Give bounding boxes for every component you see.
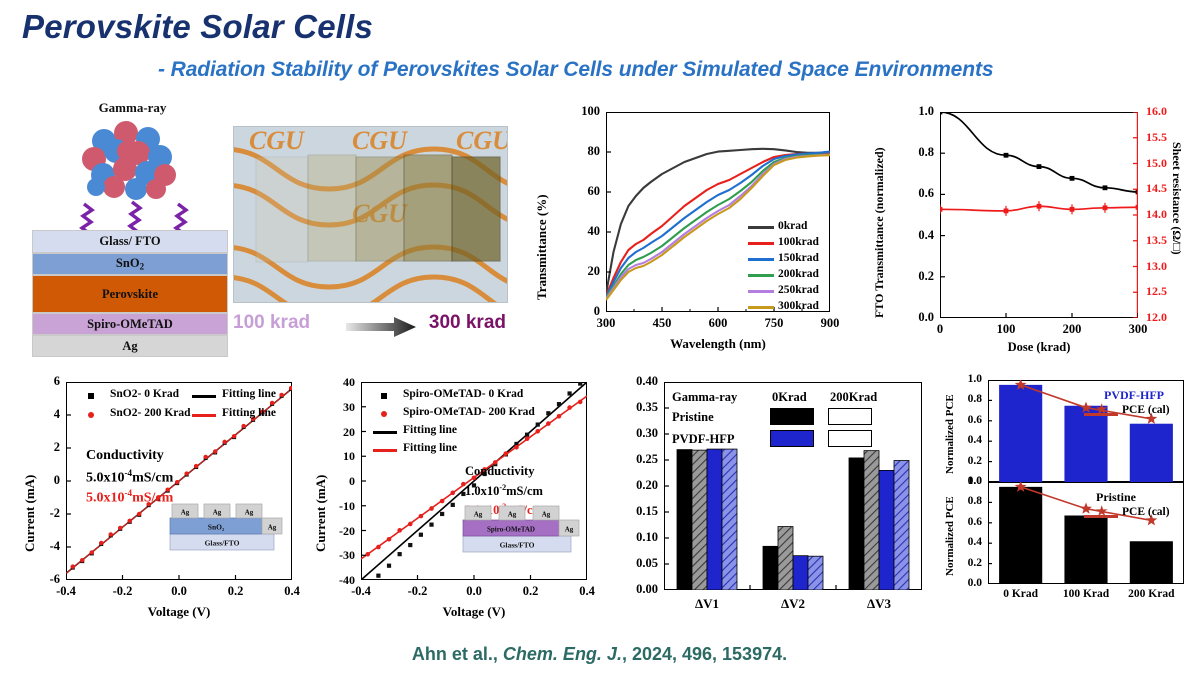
y-tick: 0.15	[636, 504, 658, 519]
x-tick: 450	[653, 316, 672, 331]
y-tick-left: 1.0	[918, 104, 934, 119]
x-axis-title: Voltage (V)	[361, 604, 587, 620]
svg-text:Ag: Ag	[565, 526, 574, 534]
x-category: 100 Krad	[1063, 588, 1109, 600]
x-category: ΔV3	[867, 596, 891, 612]
svg-text:SnO₂: SnO₂	[208, 523, 225, 532]
y-tick: -2	[50, 506, 60, 521]
legend-label: Fitting line	[403, 424, 457, 436]
y-tick: 20	[343, 425, 355, 440]
x-tick: 200	[1063, 322, 1082, 337]
legend-swatch	[748, 306, 774, 309]
legend-swatch	[748, 242, 774, 245]
y-tick-left: 0.0	[918, 310, 934, 325]
y-tick: 0.6	[968, 516, 982, 528]
x-tick: -0.4	[351, 584, 371, 599]
chart-sno2-iv: Current (mA) Voltage (V) SnO2- 0 KradFit…	[14, 372, 310, 634]
legend-label: Fitting line	[403, 442, 457, 454]
device-layer-sno2: SnO2	[32, 253, 228, 275]
device-layer-spiro: Spiro-OMeTAD	[32, 313, 228, 335]
y-tick: 0.4	[968, 536, 982, 548]
y-tick: 1.0	[968, 475, 982, 487]
chart-transmittance: Transmittance (%) Wavelength (nm) 0krad1…	[520, 100, 850, 362]
layer-label: Glass/ FTO	[99, 234, 160, 249]
legend-swatch	[828, 408, 872, 425]
dose-label-low: 100 krad	[233, 312, 310, 334]
panel-label: PVDF-HFP	[1104, 388, 1164, 403]
y-axis-title: Current (mA)	[313, 475, 329, 552]
y-tick: -20	[339, 524, 355, 539]
legend-swatch	[748, 290, 774, 293]
y-axis-title: Transmittance (%)	[534, 194, 550, 300]
device-layer-ag: Ag	[32, 335, 228, 357]
y-tick: 0.8	[968, 393, 982, 405]
svg-text:Spiro-OMeTAD: Spiro-OMeTAD	[487, 526, 535, 534]
legend-marker	[192, 414, 216, 417]
x-tick: 300	[597, 316, 616, 331]
x-tick: 750	[765, 316, 784, 331]
y-tick-left: 0.4	[918, 228, 934, 243]
gamma-ray-label: Gamma-ray	[60, 100, 205, 116]
sno2-device-inset: Glass/FTO SnO₂ Ag Ag Ag Ag	[164, 500, 288, 556]
page-subtitle: - Radiation Stability of Perovskites Sol…	[158, 58, 993, 82]
x-category: ΔV1	[695, 596, 719, 612]
pce-pristine-bars	[988, 482, 1184, 584]
legend-label: Fitting line	[222, 388, 276, 400]
y-tick-right: 12.0	[1146, 310, 1167, 325]
y-tick: 1.0	[968, 373, 982, 385]
svg-text:Ag: Ag	[268, 524, 277, 532]
y-tick: 0.25	[636, 452, 658, 467]
legend-label: Spiro-OMeTAD- 200 Krad	[403, 406, 535, 418]
conductivity-annotation: 5.0x10-4mS/cm	[86, 488, 173, 507]
star-marker-icon: ★	[1095, 505, 1108, 520]
x-tick: 0.2	[523, 584, 539, 599]
x-tick: 900	[821, 316, 840, 331]
layer-label: Ag	[122, 339, 137, 354]
y-tick: 0	[54, 473, 60, 488]
svg-text:Ag: Ag	[181, 509, 190, 517]
y-tick: 0.4	[968, 434, 982, 446]
chart-normalized-pce: Normalized PCE Normalized PCE 0.00.20.40…	[936, 374, 1194, 632]
legend-marker	[381, 393, 387, 399]
legend-marker	[192, 395, 216, 398]
conductivity-annotation: Conductivity	[465, 464, 534, 479]
y-tick: 0.2	[968, 455, 982, 467]
y-tick: 6	[54, 374, 60, 389]
conductivity-annotation: 5.0x10-4mS/cm	[86, 468, 173, 487]
legend-label: SnO2- 200 Krad	[110, 407, 191, 419]
y-tick-right: 14.0	[1146, 207, 1167, 222]
conductivity-annotation: Conductivity	[86, 448, 164, 464]
sample-photograph: CGUCGUCGU CGU	[233, 126, 508, 303]
legend-header-200krad: 200Krad	[830, 390, 877, 405]
svg-text:Ag: Ag	[245, 509, 254, 517]
x-tick: 0.0	[171, 584, 187, 599]
legend-label: 300krad	[778, 300, 819, 312]
x-tick: 0	[937, 322, 943, 337]
layer-label: Perovskite	[102, 287, 158, 302]
chart-delta-v: 0.000.050.100.150.200.250.300.350.40ΔV1Δ…	[612, 374, 930, 632]
svg-text:Ag: Ag	[474, 511, 483, 519]
legend-label: SnO2- 0 Krad	[110, 388, 179, 400]
y-tick: 0.05	[636, 556, 658, 571]
y-axis-title-right: Sheet resistance (Ω/□)	[1169, 142, 1184, 255]
legend-marker	[88, 412, 94, 418]
y-tick: 60	[588, 184, 601, 199]
y-tick: 0.30	[636, 426, 658, 441]
y-tick-left: 0.8	[918, 145, 934, 160]
citation: Ahn et al., Chem. Eng. J., 2024, 496, 15…	[0, 644, 1199, 665]
legend-label-pce: PCE (cal)	[1122, 506, 1170, 518]
legend-label: 200krad	[778, 268, 819, 280]
y-tick-left: 0.2	[918, 269, 934, 284]
legend-swatch	[748, 274, 774, 277]
y-tick: 20	[588, 264, 601, 279]
svg-text:Ag: Ag	[542, 511, 551, 519]
legend-label: 100krad	[778, 236, 819, 248]
chart-spiro-iv: Current (mA) Voltage (V) Spiro-OMeTAD- 0…	[305, 372, 610, 634]
legend-swatch	[770, 430, 814, 447]
spiro-device-inset: Glass/FTO Spiro-OMeTAD Ag Ag Ag Ag	[457, 502, 587, 558]
x-tick: -0.4	[56, 584, 76, 599]
panel-label: Pristine	[1096, 490, 1136, 505]
y-tick: 0.2	[968, 557, 982, 569]
gradient-right-arrow-icon	[346, 317, 416, 337]
legend-swatch	[770, 408, 814, 425]
y-tick: -4	[50, 539, 60, 554]
y-tick-right: 15.5	[1146, 130, 1167, 145]
x-tick: -0.2	[113, 584, 133, 599]
y-tick-right: 14.5	[1146, 181, 1167, 196]
y-axis-title-pvdf: Normalized PCE	[944, 394, 956, 474]
x-axis-title: Dose (krad)	[940, 340, 1138, 355]
x-category: 200 Krad	[1128, 588, 1174, 600]
y-tick: 80	[588, 144, 601, 159]
y-axis-title-left: FTO Transmittance (normalized)	[872, 147, 887, 318]
y-tick: 2	[54, 440, 60, 455]
svg-text:Glass/FTO: Glass/FTO	[500, 541, 535, 550]
legend-swatch	[748, 226, 774, 229]
y-tick: 100	[581, 104, 600, 119]
y-tick: 0.10	[636, 530, 658, 545]
y-tick: 0.00	[636, 582, 658, 597]
svg-text:Ag: Ag	[508, 511, 517, 519]
y-tick: 30	[343, 400, 355, 415]
y-tick: 4	[54, 407, 60, 422]
svg-text:Glass/FTO: Glass/FTO	[205, 539, 240, 548]
x-category: 0 Krad	[1003, 588, 1038, 600]
page-title: Perovskite Solar Cells	[22, 8, 373, 46]
citation-rest: , 2024, 496, 153974.	[622, 644, 787, 664]
x-tick: 0.2	[228, 584, 244, 599]
x-tick: 0.4	[284, 584, 300, 599]
radiation-cluster-icon	[70, 115, 190, 210]
photo-caption: 100 krad 300 krad	[233, 308, 506, 344]
legend-marker	[373, 449, 397, 452]
legend-marker	[381, 411, 387, 417]
x-tick: 0.4	[579, 584, 595, 599]
x-tick: -0.2	[408, 584, 428, 599]
transmittance-curves	[606, 112, 830, 312]
fto-dose-curves	[940, 112, 1138, 318]
x-axis-title: Wavelength (nm)	[606, 336, 830, 352]
svg-text:CGU: CGU	[456, 127, 507, 155]
conductivity-annotation: 1.0x10-2mS/cm	[465, 483, 543, 499]
y-tick: 0.35	[636, 400, 658, 415]
y-tick: 0.40	[636, 374, 658, 389]
legend-row-label: PVDF-HFP	[672, 432, 734, 447]
device-layer-perovskite: Perovskite	[32, 275, 228, 313]
citation-authors: Ahn et al.,	[412, 644, 498, 664]
x-tick: 0.0	[466, 584, 482, 599]
y-tick: -10	[339, 499, 355, 514]
svg-text:Ag: Ag	[213, 509, 222, 517]
y-tick: 40	[588, 224, 601, 239]
legend-swatch	[748, 258, 774, 261]
dose-label-high: 300 krad	[429, 312, 506, 334]
x-tick: 300	[1129, 322, 1148, 337]
x-tick: 600	[709, 316, 728, 331]
layer-label: Spiro-OMeTAD	[87, 317, 173, 332]
x-tick: 100	[997, 322, 1016, 337]
citation-journal: Chem. Eng. J.	[503, 644, 622, 664]
legend-label-pce: PCE (cal)	[1122, 404, 1170, 416]
legend-label: 150krad	[778, 252, 819, 264]
y-tick-right: 15.0	[1146, 156, 1167, 171]
legend-label: Fitting line	[222, 407, 276, 419]
x-axis-title: Voltage (V)	[66, 604, 292, 620]
legend-swatch	[828, 430, 872, 447]
svg-text:CGU: CGU	[352, 127, 408, 155]
star-marker-icon: ★	[1095, 403, 1108, 418]
y-axis-title-pristine: Normalized PCE	[944, 496, 956, 576]
svg-text:CGU: CGU	[249, 127, 305, 155]
y-tick: 0.6	[968, 414, 982, 426]
legend-row-label: Pristine	[672, 410, 714, 425]
legend-marker	[373, 431, 397, 434]
legend-header-0krad: 0Krad	[772, 390, 807, 405]
y-tick: 0.0	[968, 577, 982, 589]
y-tick: 10	[343, 449, 355, 464]
legend-label: 250krad	[778, 284, 819, 296]
y-tick: -30	[339, 548, 355, 563]
y-tick-right: 13.5	[1146, 233, 1167, 248]
y-axis-title: Current (mA)	[22, 475, 38, 552]
layer-label: SnO2	[116, 256, 144, 271]
chart-fto-dose: FTO Transmittance (normalized) Sheet res…	[862, 100, 1199, 362]
legend-marker	[88, 393, 94, 399]
x-category: ΔV2	[781, 596, 805, 612]
y-tick-right: 12.5	[1146, 284, 1167, 299]
legend-label: Spiro-OMeTAD- 0 Krad	[403, 388, 523, 400]
device-layer-glass-fto: Glass/ FTO	[32, 230, 228, 253]
y-tick-left: 0.6	[918, 186, 934, 201]
legend-header-gamma: Gamma-ray	[672, 390, 737, 405]
y-tick: 0.20	[636, 478, 658, 493]
y-tick-right: 13.0	[1146, 259, 1167, 274]
legend-label: 0krad	[778, 220, 807, 232]
y-tick: 0.8	[968, 495, 982, 507]
y-tick: 40	[343, 375, 355, 390]
y-tick: 0	[349, 474, 355, 489]
y-tick-right: 16.0	[1146, 104, 1167, 119]
